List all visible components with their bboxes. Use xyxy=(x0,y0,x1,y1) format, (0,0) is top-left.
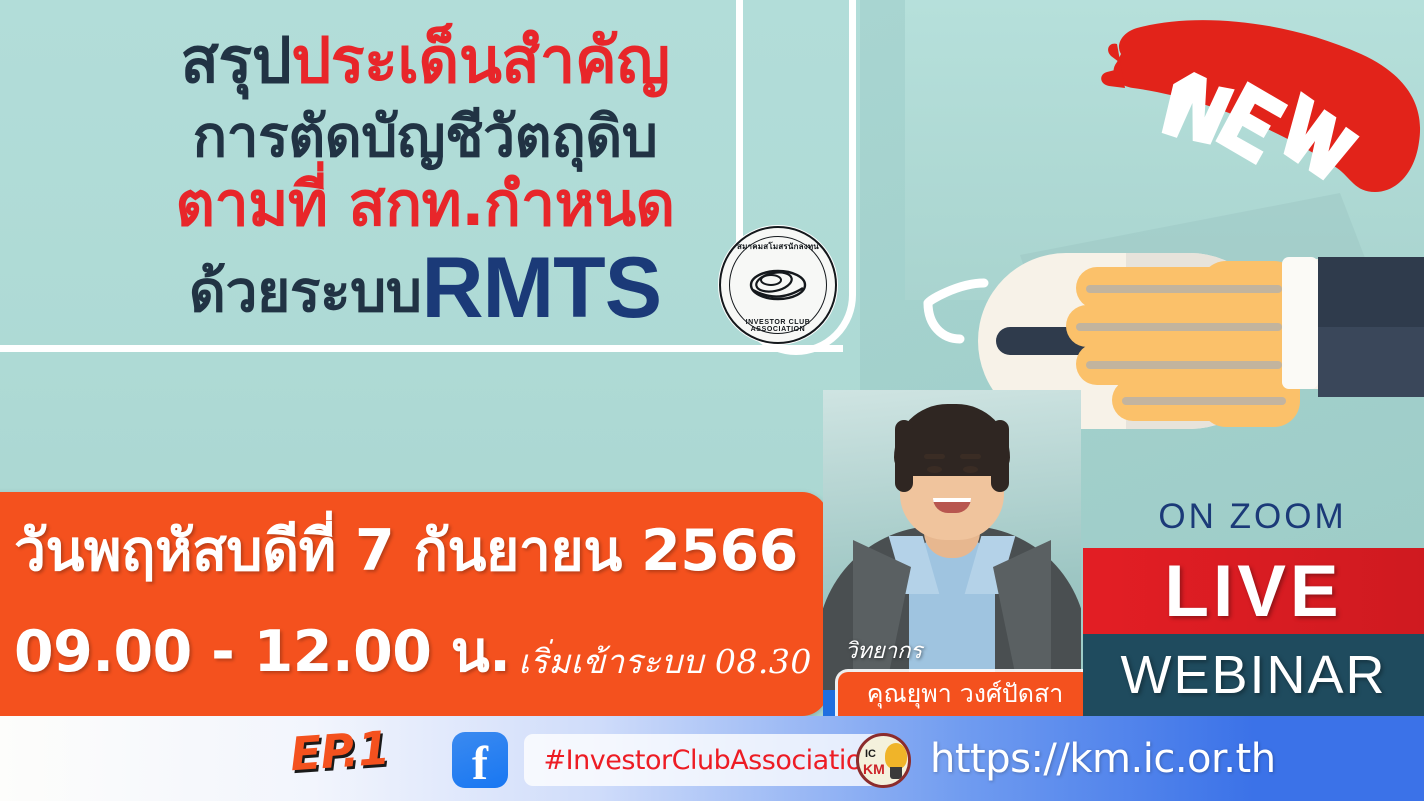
headline-system-name: RMTS xyxy=(421,240,661,336)
facebook-icon[interactable]: f xyxy=(452,732,508,788)
headline-line-3: ตามที่ สกท.กำหนด xyxy=(0,173,850,236)
speaker-name: คุณยุพา วงศ์ปัดสา xyxy=(867,674,1064,714)
headline-line-1-red: ประเด็นสำคัญ xyxy=(291,24,669,97)
webinar-label: WEBINAR xyxy=(1120,644,1386,706)
schedule-panel: วันพฤหัสบดีที่ 7 กันยายน 2566 09.00 - 12… xyxy=(0,492,828,716)
event-time-row: 09.00 - 12.00 น. เริ่มเข้าระบบ 08.30 น. xyxy=(14,607,857,697)
event-time: 09.00 - 12.00 น. xyxy=(14,607,510,697)
speaker-name-badge: คุณยุพา วงศ์ปัดสา xyxy=(838,672,1092,716)
headline-line-2: การตัดบัญชีวัตถุดิบ xyxy=(0,108,850,167)
swirl-shell-mark-icon xyxy=(747,264,809,306)
live-badge: LIVE xyxy=(1083,548,1424,634)
association-seal: สมาคมสโมสรนักลงทุน INVESTOR CLUB ASSOCIA… xyxy=(719,226,837,344)
lightbulb-icon xyxy=(885,743,907,769)
speaker-brow-left xyxy=(924,454,945,459)
speaker-eye-right xyxy=(963,466,978,473)
webinar-badge: WEBINAR xyxy=(1083,634,1424,716)
event-entry-note: เริ่มเข้าระบบ 08.30 น. xyxy=(518,635,856,697)
facebook-glyph: f xyxy=(472,742,488,785)
headline-line-3-prefix: ตามที่ xyxy=(175,169,348,240)
headline-line-3-suffix: กำหนด xyxy=(484,169,675,240)
headline-line-1-dark: สรุป xyxy=(180,24,291,97)
new-badge xyxy=(1075,0,1424,197)
seal-english-text: INVESTOR CLUB ASSOCIATION xyxy=(721,319,835,333)
km-logo-bottom-text: KM xyxy=(863,761,885,777)
decorative-white-divider xyxy=(0,345,843,352)
headline-line-4-dark: ด้วยระบบ xyxy=(189,259,422,325)
speaker-brow-right xyxy=(960,454,981,459)
red-brush-stroke-icon xyxy=(1075,0,1424,197)
headline-line-1: สรุปประเด็นสำคัญ xyxy=(0,28,850,94)
speaker-eye-left xyxy=(927,466,942,473)
speaker-hair-right xyxy=(991,420,1009,492)
event-date: วันพฤหัสบดีที่ 7 กันยายน 2566 xyxy=(14,506,798,596)
episode-badge: EP.1 xyxy=(288,721,390,782)
speaker-photo: วิทยากร xyxy=(823,390,1081,716)
speaker-hair-left xyxy=(895,420,913,492)
facebook-hashtag: #InvestorClubAssociation xyxy=(544,745,879,776)
km-logo: IC KM xyxy=(856,733,911,788)
facebook-hashtag-pill[interactable]: #InvestorClubAssociation xyxy=(524,734,898,786)
on-zoom-label: ON ZOOM xyxy=(1085,497,1420,537)
live-label: LIVE xyxy=(1164,550,1342,633)
seal-thai-text: สมาคมสโมสรนักลงทุน xyxy=(721,240,835,253)
promotional-poster: สรุปประเด็นสำคัญ การตัดบัญชีวัตถุดิบ ตาม… xyxy=(0,0,1424,801)
lightbulb-base-icon xyxy=(890,767,902,779)
speaker-role-label: วิทยากร xyxy=(845,633,922,668)
footer-bar: EP.1 f #InvestorClubAssociation IC KM ht… xyxy=(0,716,1424,801)
headline-line-3-org: สกท. xyxy=(348,169,484,240)
website-url[interactable]: https://km.ic.or.th xyxy=(930,736,1276,782)
km-logo-top-text: IC xyxy=(865,748,876,760)
